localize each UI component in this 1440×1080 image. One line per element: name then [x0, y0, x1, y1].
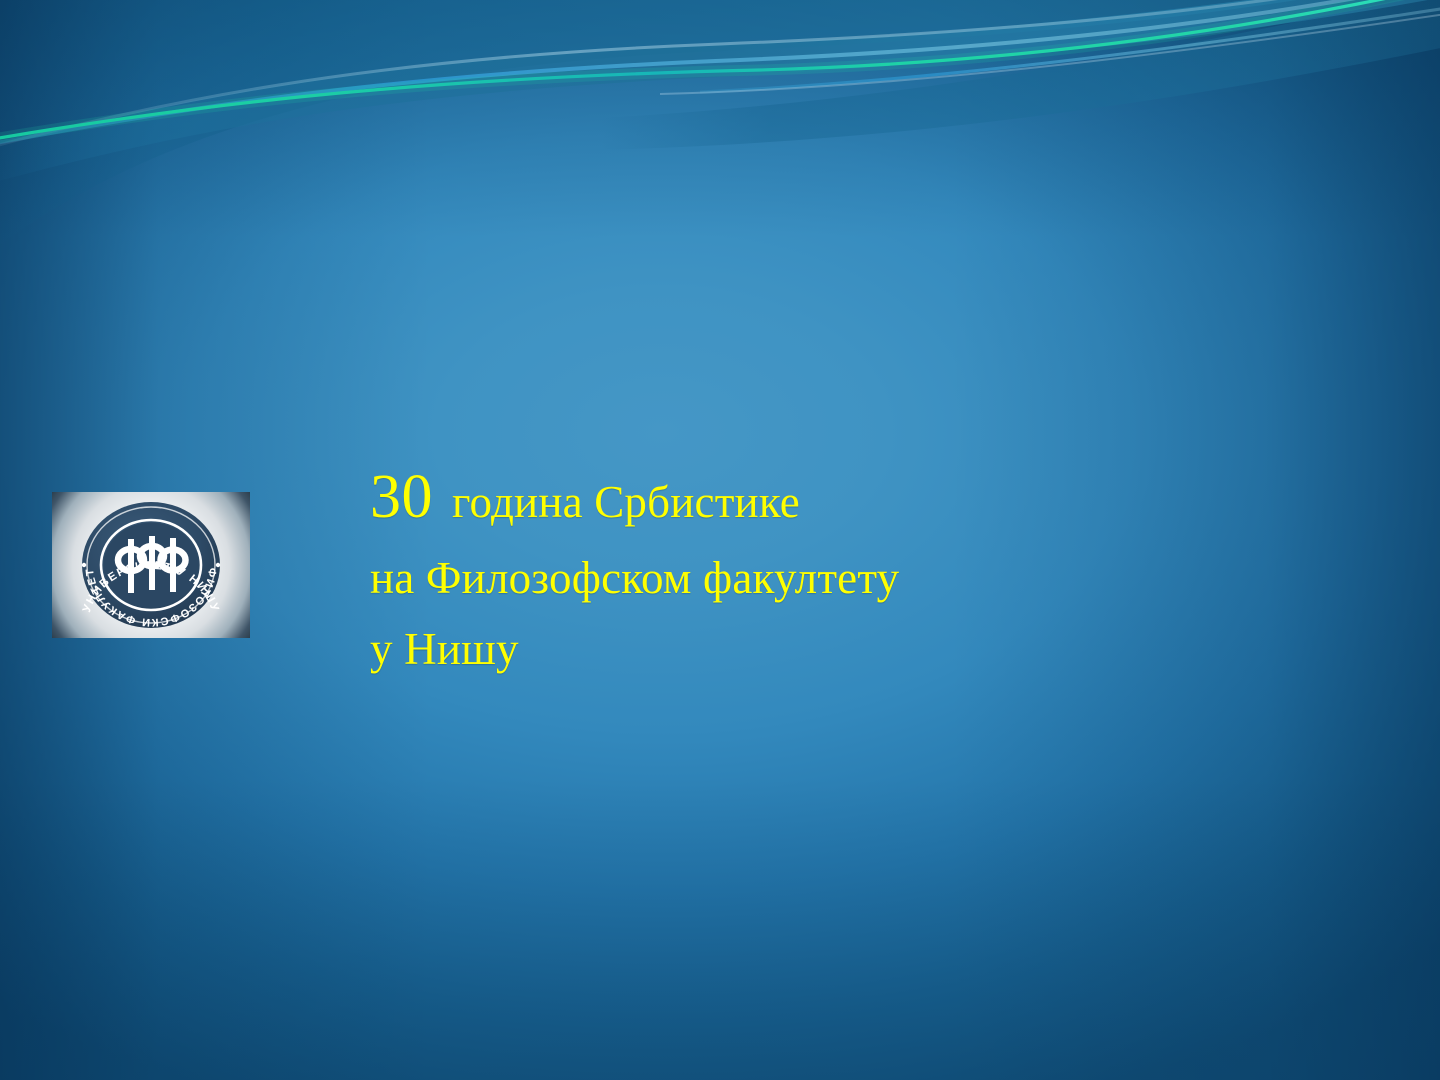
seal-monogram-fff: [118, 536, 186, 593]
faculty-logo: УНИВЕРЗИТЕТ У НИШУ ФИЛОЗОФСКИ ФАКУЛТЕТ: [52, 492, 250, 638]
title-line-2: на Филозофском факултету: [370, 556, 1070, 601]
presentation-slide: УНИВЕРЗИТЕТ У НИШУ ФИЛОЗОФСКИ ФАКУЛТЕТ: [0, 0, 1440, 1080]
slide-title: 30година Србистике на Филозофском факулт…: [370, 466, 1070, 672]
title-number: 30: [370, 463, 433, 531]
title-line-1: 30година Србистике: [370, 466, 1070, 528]
title-line-1-text: година Србистике: [452, 477, 800, 527]
seal-dot-right: [216, 563, 220, 567]
seal-dot-left: [82, 563, 86, 567]
university-seal-icon: УНИВЕРЗИТЕТ У НИШУ ФИЛОЗОФСКИ ФАКУЛТЕТ: [52, 492, 250, 638]
title-line-3: у Нишу: [370, 627, 1070, 672]
